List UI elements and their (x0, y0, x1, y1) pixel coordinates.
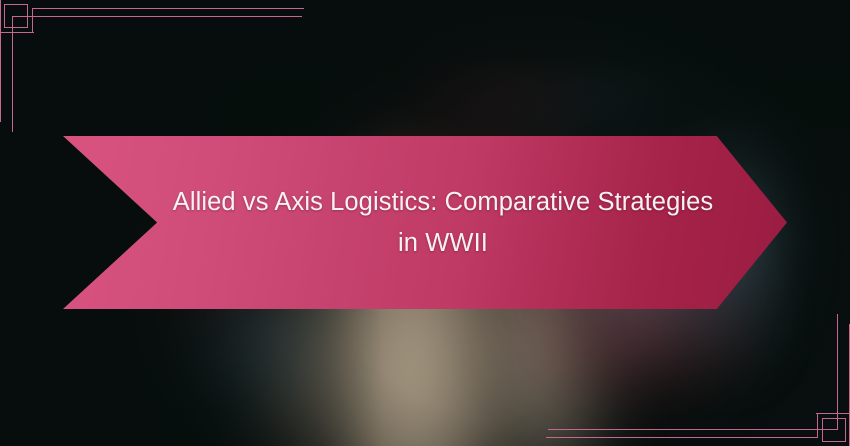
corner-outer-horizontal-line (12, 16, 302, 18)
corner-bracket-top-left (0, 0, 320, 130)
corner-bracket-bottom-right (530, 316, 850, 446)
corner-mid-horizontal-line (32, 8, 304, 10)
title-card: Allied vs Axis Logistics: Comparative St… (0, 0, 850, 446)
corner-inner-horizontal-line (0, 32, 34, 34)
corner-outer-vertical-line (12, 16, 14, 132)
page-title: Allied vs Axis Logistics: Comparative St… (163, 182, 723, 264)
corner-mid-vertical-line (32, 8, 34, 32)
corner-mid-horizontal-line (546, 436, 818, 438)
corner-mid-vertical-line (816, 414, 818, 438)
title-banner: Allied vs Axis Logistics: Comparative St… (63, 136, 787, 309)
corner-outer-vertical-line (836, 314, 838, 430)
corner-inner-vertical-line (0, 0, 35, 122)
corner-inner-horizontal-line (816, 412, 850, 414)
corner-outer-horizontal-line (548, 428, 838, 430)
